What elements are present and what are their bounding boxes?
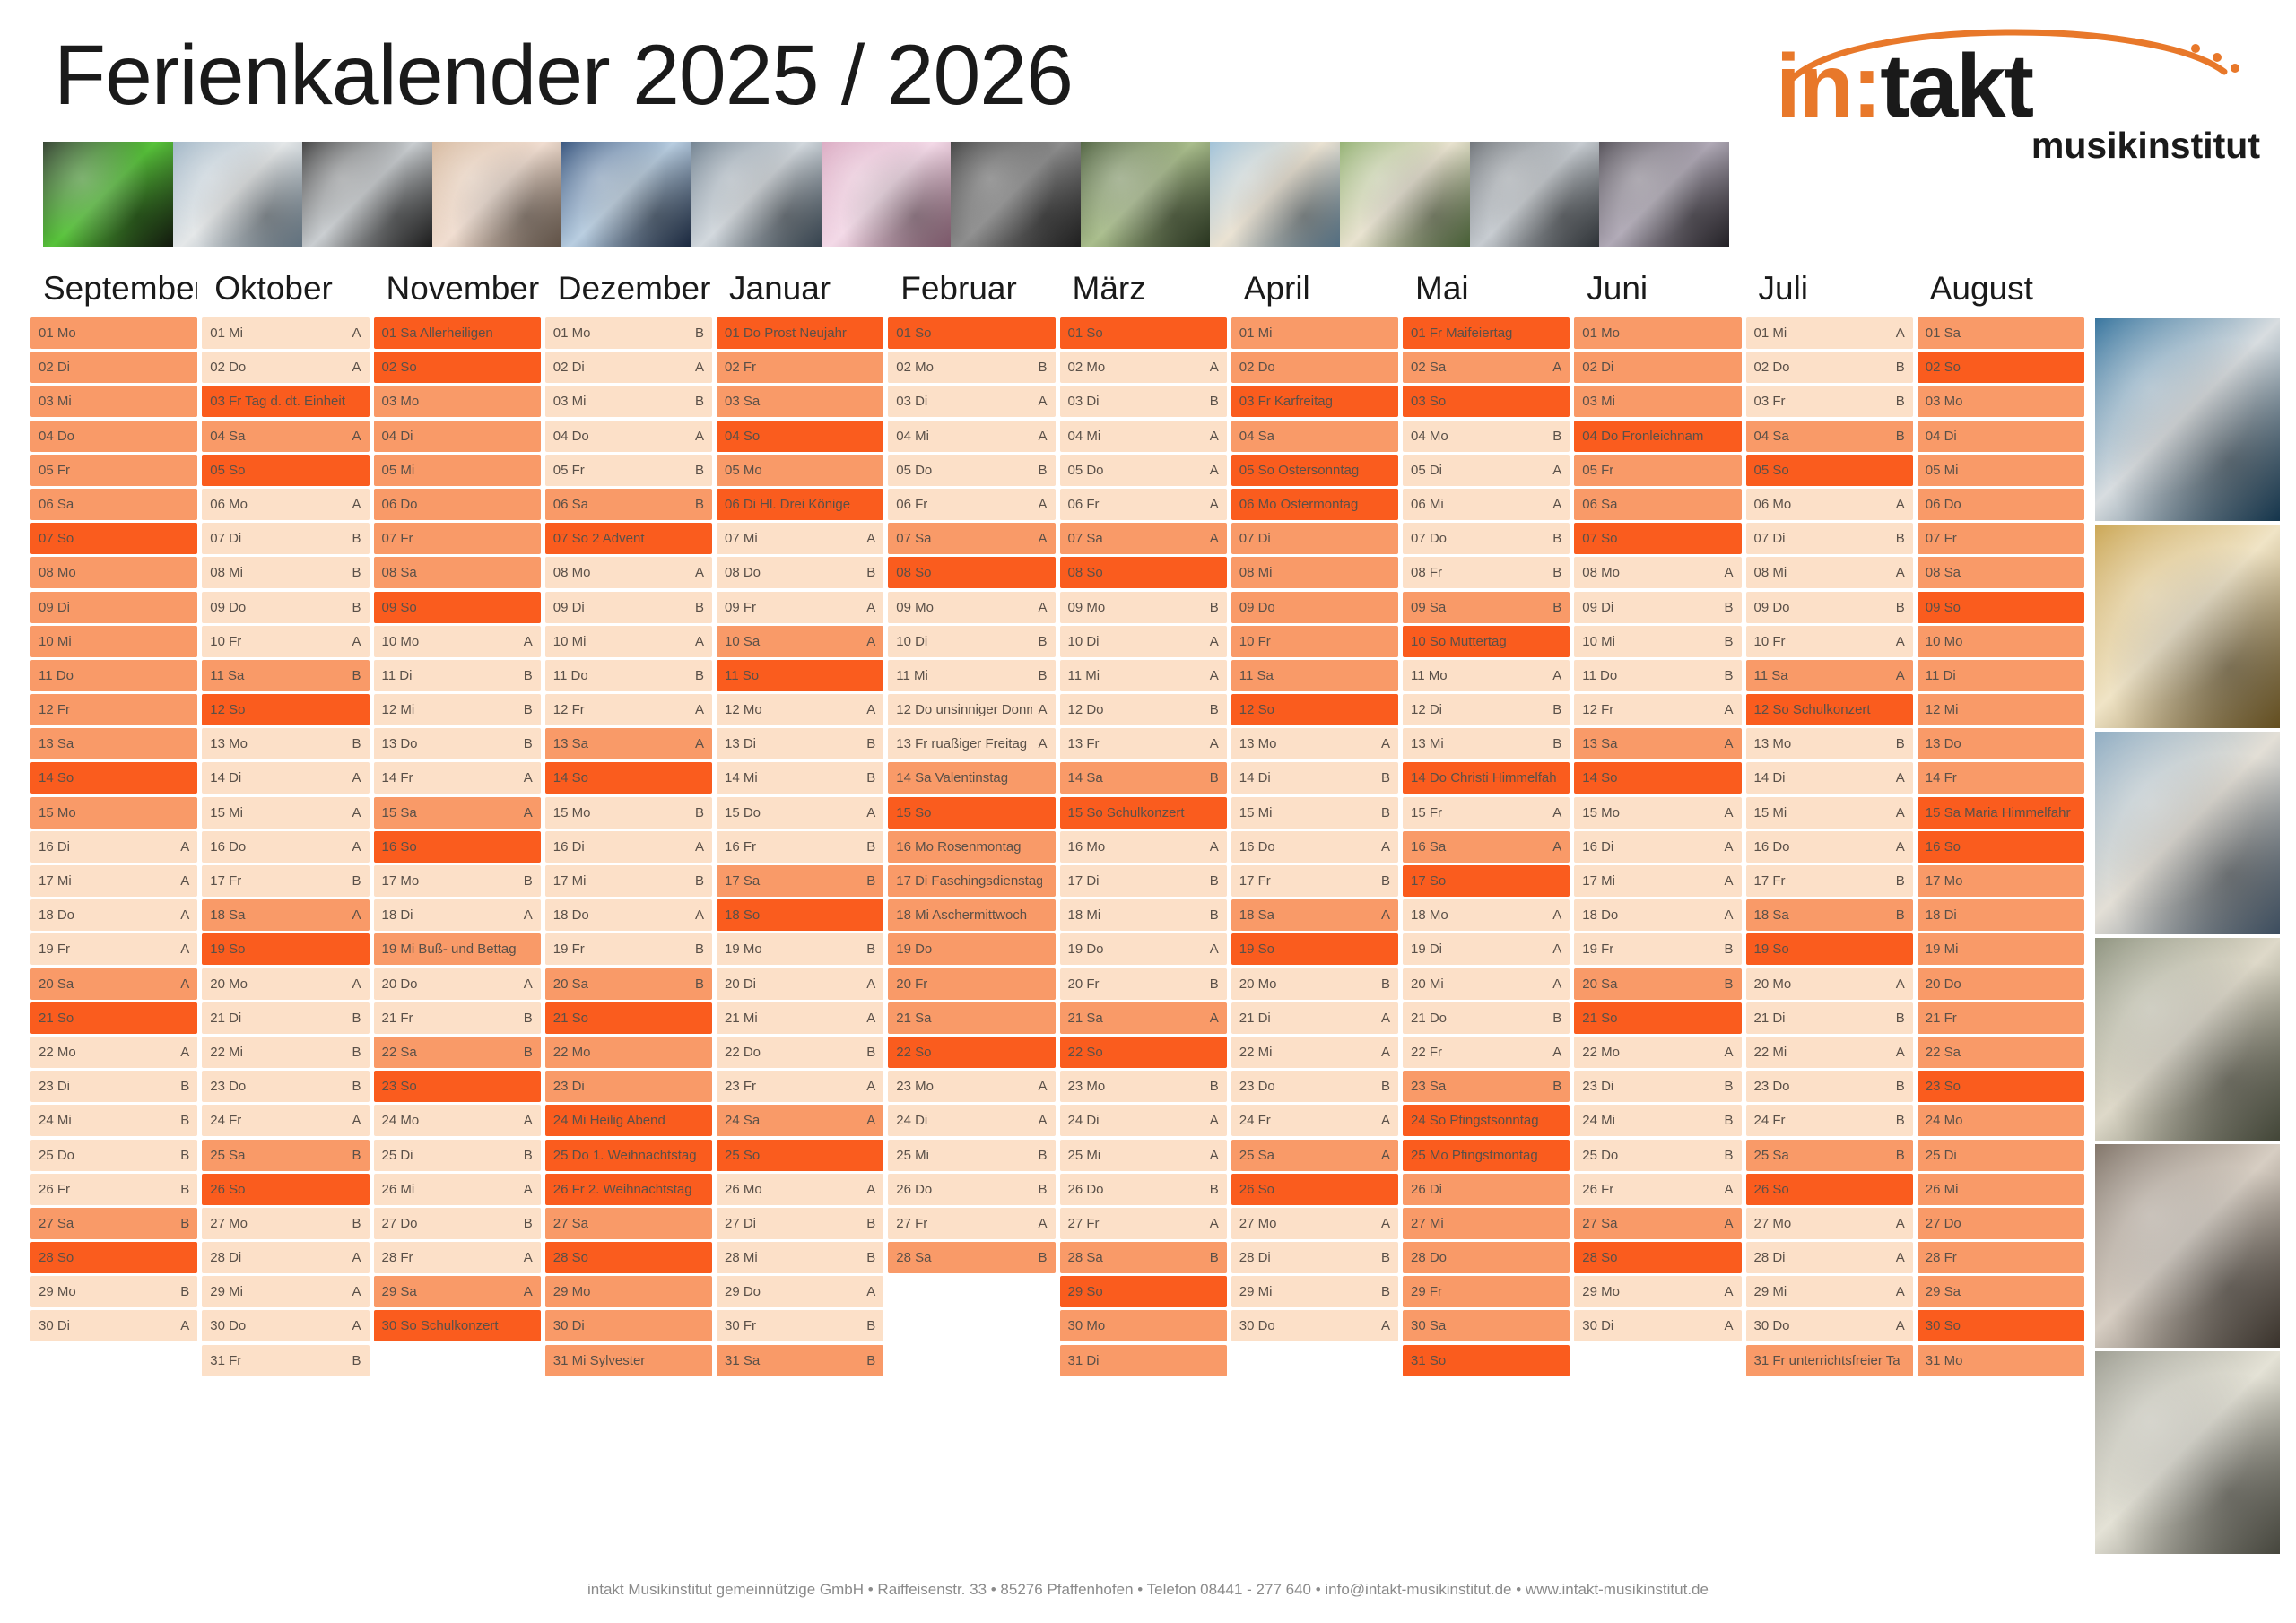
- day-cell[interactable]: 29 So: [1060, 1276, 1227, 1307]
- day-cell[interactable]: 04 So: [717, 421, 883, 452]
- day-cell[interactable]: 15 DoA: [717, 797, 883, 829]
- day-cell[interactable]: 15 Sa Maria Himmelfahrt: [1918, 797, 2084, 829]
- day-cell[interactable]: 16 FrB: [717, 831, 883, 863]
- day-cell[interactable]: 30 DoA: [202, 1310, 369, 1341]
- day-cell[interactable]: 10 FrA: [202, 626, 369, 657]
- day-cell[interactable]: 08 Sa: [1918, 557, 2084, 588]
- day-cell[interactable]: 27 FrA: [1060, 1208, 1227, 1239]
- day-cell[interactable]: 26 FrB: [30, 1174, 197, 1205]
- day-cell[interactable]: 14 So: [1574, 762, 1741, 794]
- day-cell[interactable]: 06 FrA: [1060, 489, 1227, 520]
- day-cell[interactable]: 14 DiB: [1231, 762, 1398, 794]
- day-cell[interactable]: 14 DiA: [202, 762, 369, 794]
- day-cell[interactable]: 12 Mi: [1918, 694, 2084, 725]
- day-cell[interactable]: 29 Sa: [1918, 1276, 2084, 1307]
- day-cell[interactable]: 07 SaA: [1060, 523, 1227, 554]
- day-cell[interactable]: 30 DoA: [1231, 1310, 1398, 1341]
- day-cell[interactable]: 11 So: [717, 660, 883, 691]
- day-cell[interactable]: 20 DoA: [374, 968, 541, 1000]
- day-cell[interactable]: 27 Do: [1918, 1208, 2084, 1239]
- day-cell[interactable]: 07 DiB: [1746, 523, 1913, 554]
- day-cell[interactable]: 09 DoB: [1746, 592, 1913, 623]
- day-cell[interactable]: 14 MiB: [717, 762, 883, 794]
- day-cell[interactable]: 04 DoA: [545, 421, 712, 452]
- day-cell[interactable]: 17 FrB: [1746, 865, 1913, 897]
- day-cell[interactable]: 18 So: [717, 899, 883, 931]
- day-cell[interactable]: 25 DoB: [30, 1140, 197, 1171]
- day-cell[interactable]: 20 MoA: [1746, 968, 1913, 1000]
- day-cell[interactable]: 07 So 2 Advent: [545, 523, 712, 554]
- day-cell[interactable]: 11 Do: [30, 660, 197, 691]
- day-cell[interactable]: 14 So: [545, 762, 712, 794]
- day-cell[interactable]: 19 Mi: [1918, 933, 2084, 965]
- day-cell[interactable]: 25 SaB: [1746, 1140, 1913, 1171]
- day-cell[interactable]: 21 So: [545, 1002, 712, 1034]
- day-cell[interactable]: 12 So: [202, 694, 369, 725]
- day-cell[interactable]: 04 Di: [374, 421, 541, 452]
- day-cell[interactable]: 27 Sa: [545, 1208, 712, 1239]
- day-cell[interactable]: 30 FrB: [717, 1310, 883, 1341]
- day-cell[interactable]: 26 So: [202, 1174, 369, 1205]
- day-cell[interactable]: 28 SaB: [888, 1242, 1055, 1273]
- day-cell[interactable]: 17 So: [1403, 865, 1570, 897]
- day-cell[interactable]: 16 MoA: [1060, 831, 1227, 863]
- day-cell[interactable]: 16 DiA: [1574, 831, 1741, 863]
- day-cell[interactable]: 31 Di: [1060, 1345, 1227, 1376]
- day-cell[interactable]: 31 Mo: [1918, 1345, 2084, 1376]
- day-cell[interactable]: 24 SaA: [717, 1105, 883, 1136]
- day-cell[interactable]: 27 MoA: [1231, 1208, 1398, 1239]
- day-cell[interactable]: 19 FrB: [1574, 933, 1741, 965]
- day-cell[interactable]: 05 Mo: [717, 455, 883, 486]
- day-cell[interactable]: 29 Fr: [1403, 1276, 1570, 1307]
- day-cell[interactable]: 11 SaB: [202, 660, 369, 691]
- day-cell[interactable]: 27 DoB: [374, 1208, 541, 1239]
- day-cell[interactable]: 25 MiB: [888, 1140, 1055, 1171]
- day-cell[interactable]: 09 So: [374, 592, 541, 623]
- day-cell[interactable]: 04 MiA: [1060, 421, 1227, 452]
- day-cell[interactable]: 03 FrB: [1746, 386, 1913, 417]
- day-cell[interactable]: 26 DoB: [888, 1174, 1055, 1205]
- day-cell[interactable]: 10 Mi: [30, 626, 197, 657]
- day-cell[interactable]: 17 MiA: [1574, 865, 1741, 897]
- day-cell[interactable]: 05 Fr: [30, 455, 197, 486]
- day-cell[interactable]: 28 So: [545, 1242, 712, 1273]
- day-cell[interactable]: 16 DiA: [30, 831, 197, 863]
- day-cell[interactable]: 16 SaA: [1403, 831, 1570, 863]
- day-cell[interactable]: 01 So: [888, 317, 1055, 349]
- day-cell[interactable]: 27 Mi: [1403, 1208, 1570, 1239]
- day-cell[interactable]: 29 MoB: [30, 1276, 197, 1307]
- day-cell[interactable]: 29 DoA: [717, 1276, 883, 1307]
- day-cell[interactable]: 05 DoB: [888, 455, 1055, 486]
- day-cell[interactable]: 09 SaB: [1403, 592, 1570, 623]
- day-cell[interactable]: 22 MiA: [1231, 1037, 1398, 1068]
- day-cell[interactable]: 10 DiB: [888, 626, 1055, 657]
- day-cell[interactable]: 03 Fr Karfreitag: [1231, 386, 1398, 417]
- day-cell[interactable]: 12 MiB: [374, 694, 541, 725]
- day-cell[interactable]: 21 Fr: [1918, 1002, 2084, 1034]
- day-cell[interactable]: 02 MoA: [1060, 352, 1227, 383]
- day-cell[interactable]: 13 MoA: [1231, 728, 1398, 759]
- day-cell[interactable]: 17 Mo: [1918, 865, 2084, 897]
- day-cell[interactable]: 02 Di: [30, 352, 197, 383]
- day-cell[interactable]: 15 MiB: [1231, 797, 1398, 829]
- day-cell[interactable]: 10 SaA: [717, 626, 883, 657]
- day-cell[interactable]: 19 Mi Buß- und Bettag: [374, 933, 541, 965]
- day-cell[interactable]: 12 So: [1231, 694, 1398, 725]
- day-cell[interactable]: 28 DiB: [1231, 1242, 1398, 1273]
- day-cell[interactable]: 11 Di: [1918, 660, 2084, 691]
- day-cell[interactable]: 15 So: [888, 797, 1055, 829]
- day-cell[interactable]: 05 Mi: [1918, 455, 2084, 486]
- day-cell[interactable]: 19 MoB: [717, 933, 883, 965]
- day-cell[interactable]: 23 DiB: [30, 1071, 197, 1102]
- day-cell[interactable]: 17 DiB: [1060, 865, 1227, 897]
- day-cell[interactable]: 25 SaA: [1231, 1140, 1398, 1171]
- day-cell[interactable]: 16 DoA: [1746, 831, 1913, 863]
- day-cell[interactable]: 02 MoB: [888, 352, 1055, 383]
- day-cell[interactable]: 31 Mi Sylvester: [545, 1345, 712, 1376]
- day-cell[interactable]: 02 So: [374, 352, 541, 383]
- day-cell[interactable]: 30 So: [1918, 1310, 2084, 1341]
- day-cell[interactable]: 02 DoB: [1746, 352, 1913, 383]
- day-cell[interactable]: 21 MiA: [717, 1002, 883, 1034]
- day-cell[interactable]: 08 So: [888, 557, 1055, 588]
- day-cell[interactable]: 05 So: [1746, 455, 1913, 486]
- day-cell[interactable]: 27 FrA: [888, 1208, 1055, 1239]
- day-cell[interactable]: 21 FrB: [374, 1002, 541, 1034]
- day-cell[interactable]: 11 Sa: [1231, 660, 1398, 691]
- day-cell[interactable]: 23 MoA: [888, 1071, 1055, 1102]
- day-cell[interactable]: 14 So: [30, 762, 197, 794]
- day-cell[interactable]: 21 SaA: [1060, 1002, 1227, 1034]
- day-cell[interactable]: 07 Fr: [374, 523, 541, 554]
- day-cell[interactable]: 12 Fr: [30, 694, 197, 725]
- day-cell[interactable]: 30 DoA: [1746, 1310, 1913, 1341]
- day-cell[interactable]: 03 Sa: [717, 386, 883, 417]
- day-cell[interactable]: 28 SaB: [1060, 1242, 1227, 1273]
- day-cell[interactable]: 22 Mo: [545, 1037, 712, 1068]
- day-cell[interactable]: 15 So Schulkonzert: [1060, 797, 1227, 829]
- day-cell[interactable]: 29 Mo: [545, 1276, 712, 1307]
- day-cell[interactable]: 24 Mi Heilig Abend: [545, 1105, 712, 1136]
- day-cell[interactable]: 02 DoA: [202, 352, 369, 383]
- day-cell[interactable]: 02 Do: [1231, 352, 1398, 383]
- day-cell[interactable]: 06 FrA: [888, 489, 1055, 520]
- day-cell[interactable]: 28 Do: [1403, 1242, 1570, 1273]
- day-cell[interactable]: 09 DoB: [202, 592, 369, 623]
- day-cell[interactable]: 19 DiA: [1403, 933, 1570, 965]
- day-cell[interactable]: 10 MoA: [374, 626, 541, 657]
- day-cell[interactable]: 10 MiB: [1574, 626, 1741, 657]
- day-cell[interactable]: 03 DiA: [888, 386, 1055, 417]
- day-cell[interactable]: 28 DiA: [1746, 1242, 1913, 1273]
- day-cell[interactable]: 02 Di: [1574, 352, 1741, 383]
- day-cell[interactable]: 18 DiA: [374, 899, 541, 931]
- day-cell[interactable]: 04 MiA: [888, 421, 1055, 452]
- day-cell[interactable]: 07 SaA: [888, 523, 1055, 554]
- day-cell[interactable]: 11 DoB: [1574, 660, 1741, 691]
- day-cell[interactable]: 17 FrB: [1231, 865, 1398, 897]
- day-cell[interactable]: 27 MoB: [202, 1208, 369, 1239]
- day-cell[interactable]: 23 SaB: [1403, 1071, 1570, 1102]
- day-cell[interactable]: 04 Do Fronleichnam: [1574, 421, 1741, 452]
- day-cell[interactable]: 20 Fr: [888, 968, 1055, 1000]
- day-cell[interactable]: 29 MoA: [1574, 1276, 1741, 1307]
- day-cell[interactable]: 18 Di: [1918, 899, 2084, 931]
- day-cell[interactable]: 19 FrA: [30, 933, 197, 965]
- day-cell[interactable]: 15 MoB: [545, 797, 712, 829]
- day-cell[interactable]: 04 Do: [30, 421, 197, 452]
- day-cell[interactable]: 01 MiA: [202, 317, 369, 349]
- day-cell[interactable]: 14 DiA: [1746, 762, 1913, 794]
- day-cell[interactable]: 04 Di: [1918, 421, 2084, 452]
- day-cell[interactable]: 26 Di: [1403, 1174, 1570, 1205]
- day-cell[interactable]: 24 So Pfingstsonntag: [1403, 1105, 1570, 1136]
- day-cell[interactable]: 21 So: [30, 1002, 197, 1034]
- day-cell[interactable]: 11 MiB: [888, 660, 1055, 691]
- day-cell[interactable]: 06 Sa: [30, 489, 197, 520]
- day-cell[interactable]: 12 MoA: [717, 694, 883, 725]
- day-cell[interactable]: 20 MoA: [202, 968, 369, 1000]
- day-cell[interactable]: 27 SaB: [30, 1208, 197, 1239]
- day-cell[interactable]: 13 SaA: [1574, 728, 1741, 759]
- day-cell[interactable]: 19 DoA: [1060, 933, 1227, 965]
- day-cell[interactable]: 25 Di: [1918, 1140, 2084, 1171]
- day-cell[interactable]: 05 Mi: [374, 455, 541, 486]
- day-cell[interactable]: 25 So: [717, 1140, 883, 1171]
- day-cell[interactable]: 09 MoB: [1060, 592, 1227, 623]
- day-cell[interactable]: 30 Di: [545, 1310, 712, 1341]
- day-cell[interactable]: 13 Sa: [30, 728, 197, 759]
- day-cell[interactable]: 11 MoA: [1403, 660, 1570, 691]
- day-cell[interactable]: 18 DoA: [30, 899, 197, 931]
- day-cell[interactable]: 17 MiA: [30, 865, 197, 897]
- day-cell[interactable]: 31 FrB: [202, 1345, 369, 1376]
- day-cell[interactable]: 20 SaA: [30, 968, 197, 1000]
- day-cell[interactable]: 20 Do: [1918, 968, 2084, 1000]
- day-cell[interactable]: 14 Fr: [1918, 762, 2084, 794]
- day-cell[interactable]: 20 MiA: [1403, 968, 1570, 1000]
- day-cell[interactable]: 12 FrA: [1574, 694, 1741, 725]
- day-cell[interactable]: 31 Fr unterrichtsfreier Tag: [1746, 1345, 1913, 1376]
- day-cell[interactable]: 25 DoB: [1574, 1140, 1741, 1171]
- day-cell[interactable]: 04 MoB: [1403, 421, 1570, 452]
- day-cell[interactable]: 15 MiA: [202, 797, 369, 829]
- day-cell[interactable]: 28 So: [30, 1242, 197, 1273]
- day-cell[interactable]: 25 Mo Pfingstmontag: [1403, 1140, 1570, 1171]
- day-cell[interactable]: 13 MiB: [1403, 728, 1570, 759]
- day-cell[interactable]: 04 Sa: [1231, 421, 1398, 452]
- day-cell[interactable]: 10 Fr: [1231, 626, 1398, 657]
- day-cell[interactable]: 07 DiB: [202, 523, 369, 554]
- day-cell[interactable]: 01 Sa: [1918, 317, 2084, 349]
- day-cell[interactable]: 01 Sa Allerheiligen: [374, 317, 541, 349]
- day-cell[interactable]: 24 DiA: [888, 1105, 1055, 1136]
- day-cell[interactable]: 02 SaA: [1403, 352, 1570, 383]
- day-cell[interactable]: 13 Fr ruaßiger FreitagA: [888, 728, 1055, 759]
- day-cell[interactable]: 08 MiB: [202, 557, 369, 588]
- day-cell[interactable]: 16 So: [374, 831, 541, 863]
- day-cell[interactable]: 14 FrA: [374, 762, 541, 794]
- day-cell[interactable]: 29 MiA: [202, 1276, 369, 1307]
- day-cell[interactable]: 27 SaA: [1574, 1208, 1741, 1239]
- day-cell[interactable]: 07 Fr: [1918, 523, 2084, 554]
- day-cell[interactable]: 25 Do 1. Weihnachtstag: [545, 1140, 712, 1171]
- day-cell[interactable]: 23 So: [374, 1071, 541, 1102]
- day-cell[interactable]: 23 Di: [545, 1071, 712, 1102]
- day-cell[interactable]: 05 DoA: [1060, 455, 1227, 486]
- day-cell[interactable]: 10 FrA: [1746, 626, 1913, 657]
- day-cell[interactable]: 05 FrB: [545, 455, 712, 486]
- day-cell[interactable]: 13 SaA: [545, 728, 712, 759]
- day-cell[interactable]: 24 Mo: [1918, 1105, 2084, 1136]
- day-cell[interactable]: 19 Do: [888, 933, 1055, 965]
- day-cell[interactable]: 10 DiA: [1060, 626, 1227, 657]
- day-cell[interactable]: 12 DoB: [1060, 694, 1227, 725]
- day-cell[interactable]: 08 MoA: [545, 557, 712, 588]
- day-cell[interactable]: 01 MiA: [1746, 317, 1913, 349]
- day-cell[interactable]: 18 SaA: [1231, 899, 1398, 931]
- day-cell[interactable]: 21 DoB: [1403, 1002, 1570, 1034]
- day-cell[interactable]: 03 MiB: [545, 386, 712, 417]
- day-cell[interactable]: 29 MiA: [1746, 1276, 1913, 1307]
- day-cell[interactable]: 13 DiB: [717, 728, 883, 759]
- day-cell[interactable]: 20 MoB: [1231, 968, 1398, 1000]
- day-cell[interactable]: 18 DoA: [1574, 899, 1741, 931]
- day-cell[interactable]: 10 So Muttertag: [1403, 626, 1570, 657]
- day-cell[interactable]: 06 Di Hl. Drei Könige: [717, 489, 883, 520]
- day-cell[interactable]: 16 DiA: [545, 831, 712, 863]
- day-cell[interactable]: 16 Mo Rosenmontag: [888, 831, 1055, 863]
- day-cell[interactable]: 22 Sa: [1918, 1037, 2084, 1068]
- day-cell[interactable]: 02 So: [1918, 352, 2084, 383]
- day-cell[interactable]: 01 Fr Maifeiertag: [1403, 317, 1570, 349]
- day-cell[interactable]: 19 FrB: [545, 933, 712, 965]
- day-cell[interactable]: 07 Di: [1231, 523, 1398, 554]
- day-cell[interactable]: 03 Mi: [1574, 386, 1741, 417]
- day-cell[interactable]: 04 SaB: [1746, 421, 1913, 452]
- day-cell[interactable]: 08 MiA: [1746, 557, 1913, 588]
- day-cell[interactable]: 27 MoA: [1746, 1208, 1913, 1239]
- day-cell[interactable]: 25 MiA: [1060, 1140, 1227, 1171]
- day-cell[interactable]: 21 So: [1574, 1002, 1741, 1034]
- day-cell[interactable]: 23 So: [1918, 1071, 2084, 1102]
- day-cell[interactable]: 08 So: [1060, 557, 1227, 588]
- day-cell[interactable]: 05 So Ostersonntag: [1231, 455, 1398, 486]
- day-cell[interactable]: 16 DoA: [1231, 831, 1398, 863]
- day-cell[interactable]: 22 FrA: [1403, 1037, 1570, 1068]
- day-cell[interactable]: 08 MoA: [1574, 557, 1741, 588]
- day-cell[interactable]: 28 So: [1574, 1242, 1741, 1273]
- day-cell[interactable]: 31 SaB: [717, 1345, 883, 1376]
- day-cell[interactable]: 30 DiA: [30, 1310, 197, 1341]
- day-cell[interactable]: 15 MoA: [1574, 797, 1741, 829]
- day-cell[interactable]: 03 Mo: [374, 386, 541, 417]
- day-cell[interactable]: 08 DoB: [717, 557, 883, 588]
- day-cell[interactable]: 26 FrA: [1574, 1174, 1741, 1205]
- day-cell[interactable]: 13 Do: [1918, 728, 2084, 759]
- day-cell[interactable]: 20 SaB: [1574, 968, 1741, 1000]
- day-cell[interactable]: 24 MoA: [374, 1105, 541, 1136]
- day-cell[interactable]: 15 MiA: [1746, 797, 1913, 829]
- day-cell[interactable]: 05 So: [202, 455, 369, 486]
- day-cell[interactable]: 24 FrA: [1231, 1105, 1398, 1136]
- day-cell[interactable]: 30 Mo: [1060, 1310, 1227, 1341]
- day-cell[interactable]: 20 DiA: [717, 968, 883, 1000]
- day-cell[interactable]: 27 DiB: [717, 1208, 883, 1239]
- day-cell[interactable]: 19 So: [202, 933, 369, 965]
- day-cell[interactable]: 06 MiA: [1403, 489, 1570, 520]
- day-cell[interactable]: 15 SaA: [374, 797, 541, 829]
- day-cell[interactable]: 12 FrA: [545, 694, 712, 725]
- day-cell[interactable]: 26 MiA: [374, 1174, 541, 1205]
- day-cell[interactable]: 13 MoB: [202, 728, 369, 759]
- day-cell[interactable]: 12 Do unsinniger DonnerstagA: [888, 694, 1055, 725]
- day-cell[interactable]: 21 DiA: [1231, 1002, 1398, 1034]
- day-cell[interactable]: 13 FrA: [1060, 728, 1227, 759]
- day-cell[interactable]: 08 Sa: [374, 557, 541, 588]
- day-cell[interactable]: 22 MiA: [1746, 1037, 1913, 1068]
- day-cell[interactable]: 14 SaB: [1060, 762, 1227, 794]
- day-cell[interactable]: 07 MiA: [717, 523, 883, 554]
- day-cell[interactable]: 16 DoA: [202, 831, 369, 863]
- day-cell[interactable]: 08 Mi: [1231, 557, 1398, 588]
- day-cell[interactable]: 06 MoA: [202, 489, 369, 520]
- day-cell[interactable]: 09 MoA: [888, 592, 1055, 623]
- day-cell[interactable]: 11 MiA: [1060, 660, 1227, 691]
- day-cell[interactable]: 17 FrB: [202, 865, 369, 897]
- day-cell[interactable]: 07 So: [30, 523, 197, 554]
- day-cell[interactable]: 10 MiA: [545, 626, 712, 657]
- day-cell[interactable]: 03 DiB: [1060, 386, 1227, 417]
- day-cell[interactable]: 19 So: [1746, 933, 1913, 965]
- day-cell[interactable]: 12 DiB: [1403, 694, 1570, 725]
- day-cell[interactable]: 24 DiA: [1060, 1105, 1227, 1136]
- day-cell[interactable]: 06 SaB: [545, 489, 712, 520]
- day-cell[interactable]: 16 So: [1918, 831, 2084, 863]
- day-cell[interactable]: 09 DiB: [545, 592, 712, 623]
- day-cell[interactable]: 22 MoA: [30, 1037, 197, 1068]
- day-cell[interactable]: 13 DoB: [374, 728, 541, 759]
- day-cell[interactable]: 20 SaB: [545, 968, 712, 1000]
- day-cell[interactable]: 25 SaB: [202, 1140, 369, 1171]
- day-cell[interactable]: 28 DiA: [202, 1242, 369, 1273]
- day-cell[interactable]: 18 MiB: [1060, 899, 1227, 931]
- day-cell[interactable]: 03 So: [1403, 386, 1570, 417]
- day-cell[interactable]: 24 FrA: [202, 1105, 369, 1136]
- day-cell[interactable]: 31 So: [1403, 1345, 1570, 1376]
- day-cell[interactable]: 23 MoB: [1060, 1071, 1227, 1102]
- day-cell[interactable]: 18 DoA: [545, 899, 712, 931]
- day-cell[interactable]: 24 MiB: [30, 1105, 197, 1136]
- day-cell[interactable]: 03 Fr Tag d. dt. Einheit: [202, 386, 369, 417]
- day-cell[interactable]: 23 FrA: [717, 1071, 883, 1102]
- day-cell[interactable]: 18 MoA: [1403, 899, 1570, 931]
- day-cell[interactable]: 22 SaB: [374, 1037, 541, 1068]
- day-cell[interactable]: 28 Fr: [1918, 1242, 2084, 1273]
- day-cell[interactable]: 23 DiB: [1574, 1071, 1741, 1102]
- day-cell[interactable]: 20 FrB: [1060, 968, 1227, 1000]
- day-cell[interactable]: 22 So: [888, 1037, 1055, 1068]
- day-cell[interactable]: 17 Di Faschingsdienstag: [888, 865, 1055, 897]
- day-cell[interactable]: 01 So: [1060, 317, 1227, 349]
- day-cell[interactable]: 11 SaA: [1746, 660, 1913, 691]
- day-cell[interactable]: 25 DiB: [374, 1140, 541, 1171]
- day-cell[interactable]: 22 MiB: [202, 1037, 369, 1068]
- day-cell[interactable]: 18 SaA: [202, 899, 369, 931]
